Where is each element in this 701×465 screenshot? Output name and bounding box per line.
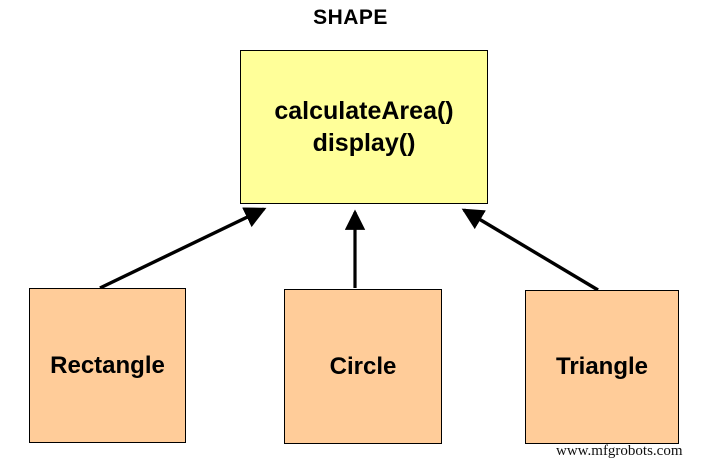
watermark: www.mfgrobots.com: [556, 443, 683, 460]
method-display: display(): [313, 127, 416, 159]
class-node-triangle[interactable]: Triangle: [525, 290, 679, 444]
edge-rectangle-to-shape: [100, 209, 264, 288]
class-node-circle[interactable]: Circle: [284, 289, 442, 444]
class-node-rectangle-label: Rectangle: [50, 352, 165, 380]
method-calculate-area: calculateArea(): [274, 95, 453, 127]
class-node-triangle-label: Triangle: [556, 353, 648, 381]
class-node-shape[interactable]: calculateArea() display(): [240, 50, 488, 204]
diagram-canvas: SHAPE calculateArea() display() Rectangl…: [0, 0, 701, 465]
edge-triangle-to-shape: [464, 210, 598, 290]
class-node-rectangle[interactable]: Rectangle: [29, 288, 186, 443]
class-node-circle-label: Circle: [330, 353, 397, 381]
page-title: SHAPE: [0, 6, 701, 30]
